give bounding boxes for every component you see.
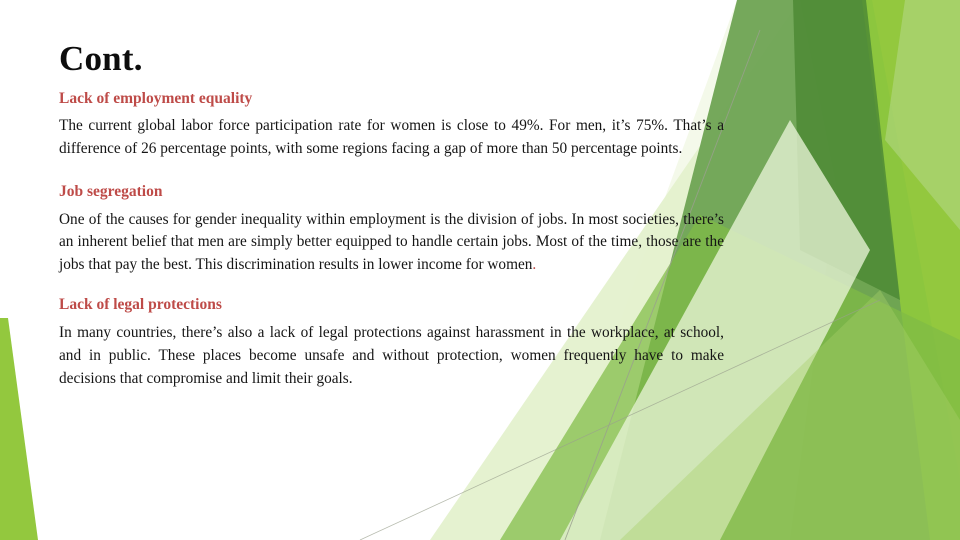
- section-body-job-segregation-text: One of the causes for gender inequality …: [59, 211, 724, 273]
- section-heading-job-segregation: Job segregation: [59, 182, 724, 203]
- corner-wedge-shape: [0, 318, 38, 540]
- section-heading-employment-equality: Lack of employment equality: [59, 89, 724, 110]
- facet-bright-right: [790, 0, 960, 540]
- section-body-job-segregation-trailing-dot: .: [532, 256, 536, 273]
- section-body-job-segregation: One of the causes for gender inequality …: [59, 209, 724, 277]
- section-heading-legal-protections: Lack of legal protections: [59, 295, 724, 316]
- facet-light-topright: [885, 0, 960, 230]
- slide-canvas: Cont. Lack of employment equality The cu…: [0, 0, 960, 540]
- slide-content: Cont. Lack of employment equality The cu…: [59, 40, 724, 403]
- page-title: Cont.: [59, 40, 724, 79]
- section-body-employment-equality: The current global labor force participa…: [59, 115, 724, 160]
- facet-dark-green: [793, 0, 900, 300]
- spacer-1: [59, 174, 724, 182]
- facet-bright-inner: [800, 0, 960, 540]
- section-body-legal-protections: In many countries, there’s also a lack o…: [59, 322, 724, 390]
